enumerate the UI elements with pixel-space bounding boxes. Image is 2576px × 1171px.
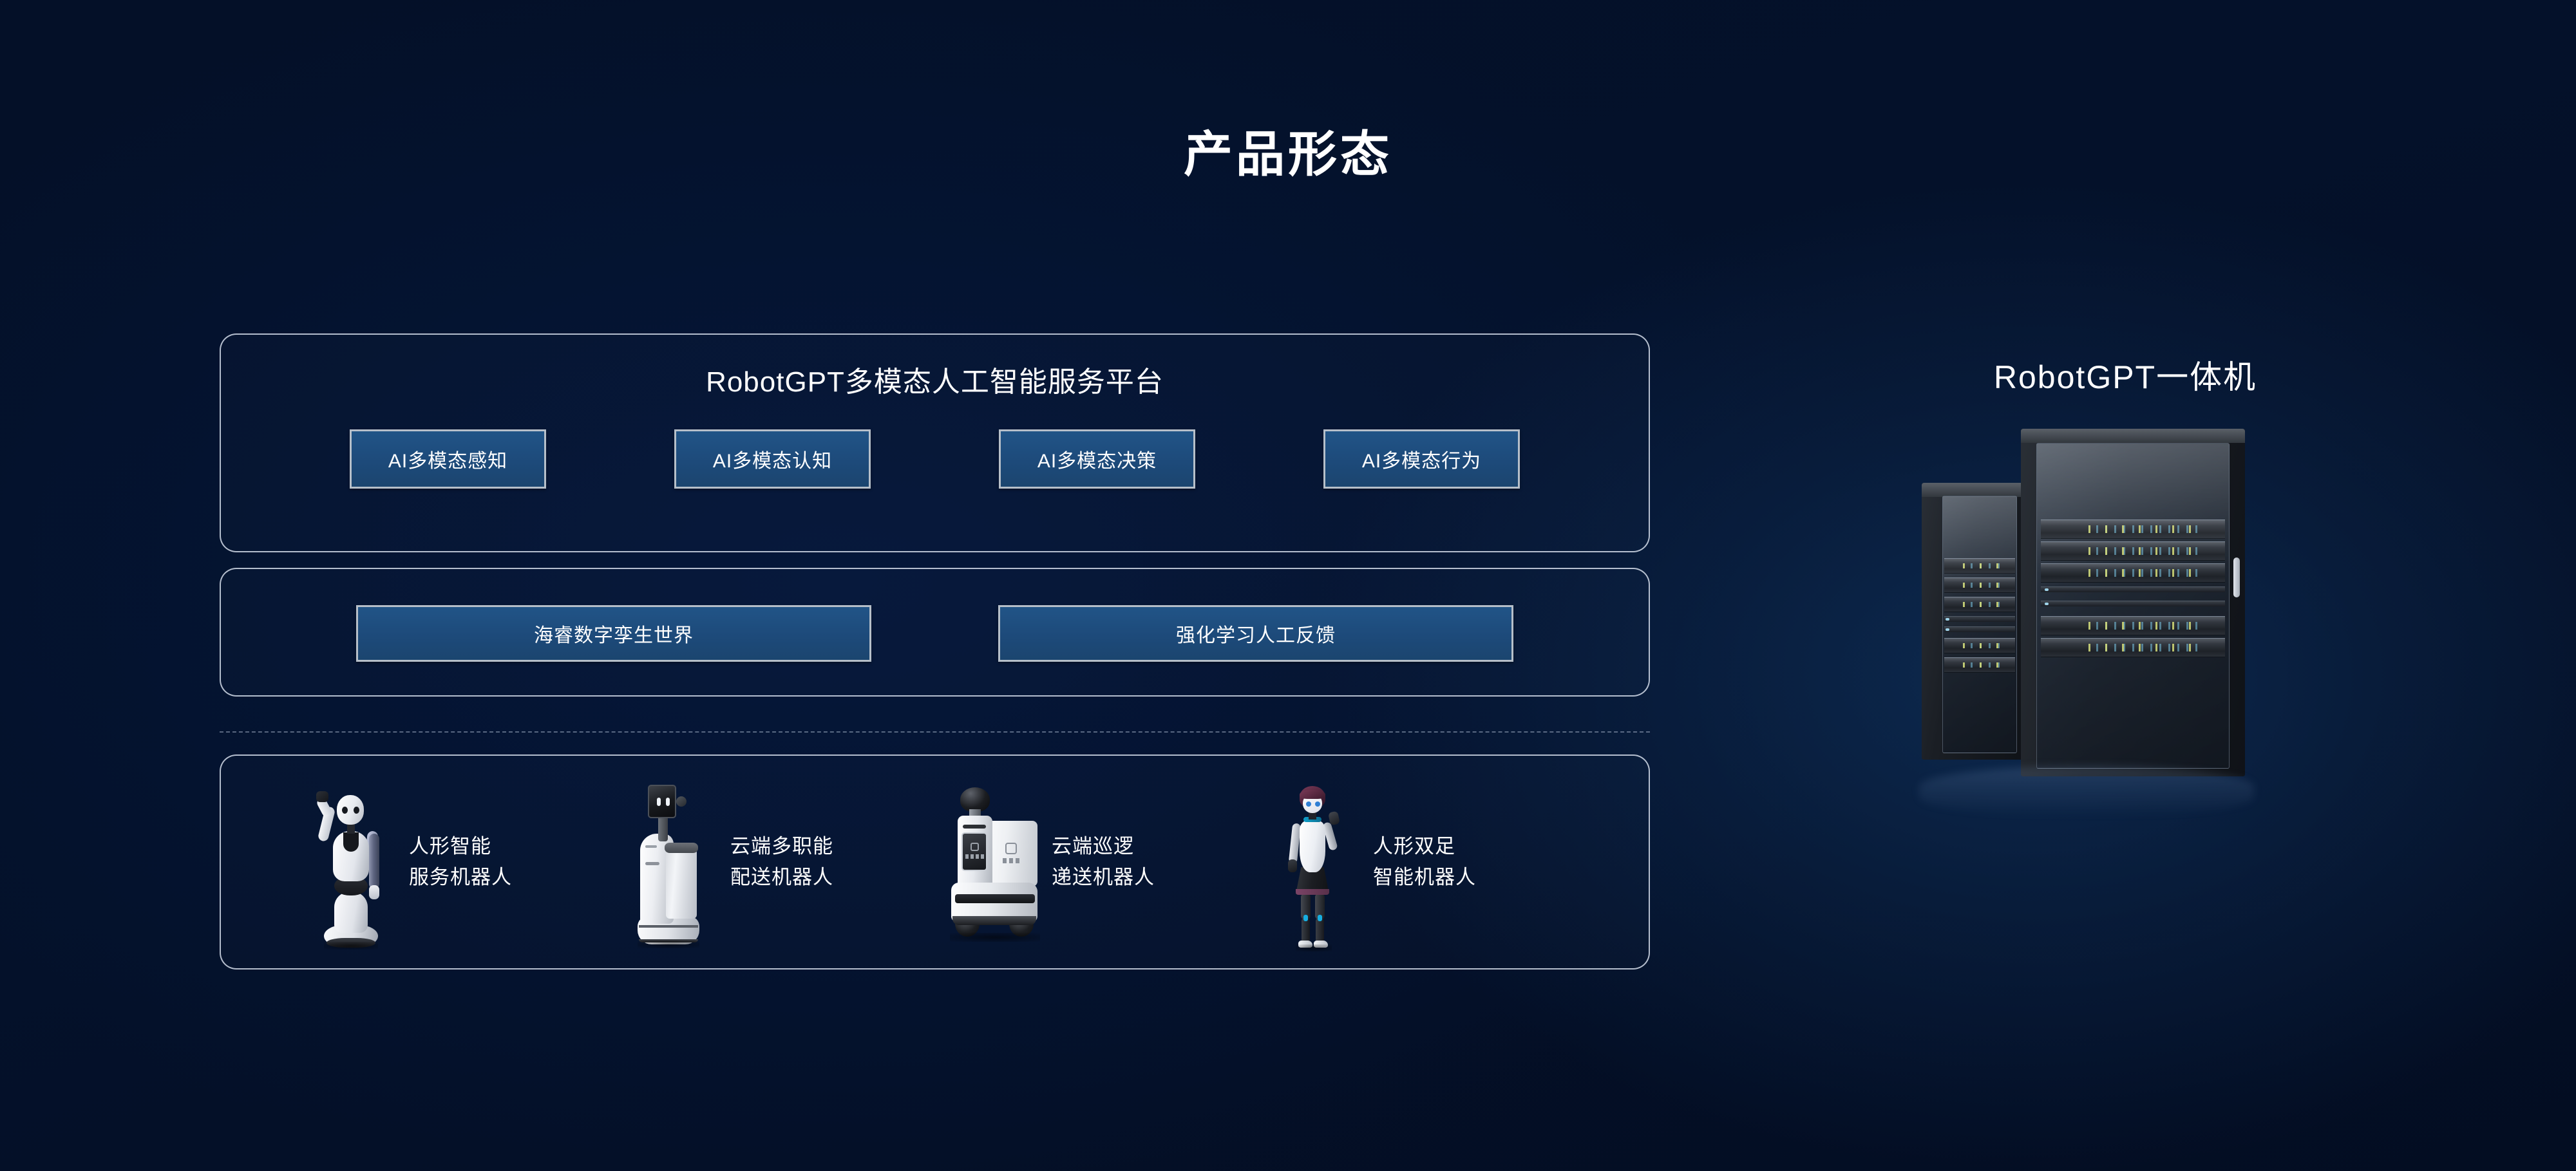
page-title: 产品形态 [0, 115, 2576, 185]
slide-canvas: 产品形态 RobotGPT多模态人工智能服务平台 AI多模态感知 AI多模态认知… [0, 0, 2576, 1171]
robot-label: 云端多职能 配送机器人 [730, 831, 833, 893]
patrol-delivery-vehicle-icon [941, 778, 1037, 946]
engine-chip-row: 海睿数字孪生世界 强化学习人工反馈 [221, 605, 1649, 662]
robot-label-line1: 云端多职能 [730, 831, 833, 862]
capability-chip-perception[interactable]: AI多模态感知 [350, 429, 546, 489]
robot-label-line2: 智能机器人 [1373, 862, 1476, 893]
platform-card-heading: RobotGPT多模态人工智能服务平台 [221, 359, 1649, 400]
robot-label: 云端巡逻 递送机器人 [1052, 831, 1155, 893]
section-divider [220, 731, 1650, 733]
capability-chip-decision[interactable]: AI多模态决策 [999, 429, 1195, 489]
robot-label-line1: 人形双足 [1373, 831, 1476, 862]
robots-card: 人形智能 服务机器人 云端多职能 配送机器人 [220, 754, 1650, 970]
robot-label: 人形双足 智能机器人 [1373, 831, 1476, 893]
robot-label-line2: 配送机器人 [730, 862, 833, 893]
engine-chip-rlhf[interactable]: 强化学习人工反馈 [998, 605, 1513, 662]
robot-list: 人形智能 服务机器人 云端多职能 配送机器人 [221, 756, 1649, 968]
list-item[interactable]: 人形双足 智能机器人 [1262, 778, 1571, 946]
list-item[interactable]: 人形智能 服务机器人 [298, 778, 607, 946]
capability-chip-row: AI多模态感知 AI多模态认知 AI多模态决策 AI多模态行为 [221, 429, 1649, 489]
robot-label-line2: 递送机器人 [1052, 862, 1155, 893]
cloud-delivery-robot-icon [620, 778, 716, 946]
engine-chip-digital-twin[interactable]: 海睿数字孪生世界 [356, 605, 871, 662]
platform-card: RobotGPT多模态人工智能服务平台 AI多模态感知 AI多模态认知 AI多模… [220, 333, 1650, 552]
bipedal-humanoid-robot-icon [1262, 778, 1359, 946]
robot-label-line1: 云端巡逻 [1052, 831, 1155, 862]
humanoid-service-robot-icon [298, 778, 395, 946]
capability-chip-cognition[interactable]: AI多模态认知 [674, 429, 871, 489]
appliance-title: RobotGPT一体机 [1739, 351, 2512, 398]
server-rack-icon [1893, 418, 2280, 1030]
robot-label: 人形智能 服务机器人 [409, 831, 512, 893]
engine-card: 海睿数字孪生世界 强化学习人工反馈 [220, 568, 1650, 697]
capability-chip-behavior[interactable]: AI多模态行为 [1323, 429, 1520, 489]
robot-label-line1: 人形智能 [409, 831, 512, 862]
list-item[interactable]: 云端巡逻 递送机器人 [941, 778, 1250, 946]
list-item[interactable]: 云端多职能 配送机器人 [620, 778, 929, 946]
robot-label-line2: 服务机器人 [409, 862, 512, 893]
